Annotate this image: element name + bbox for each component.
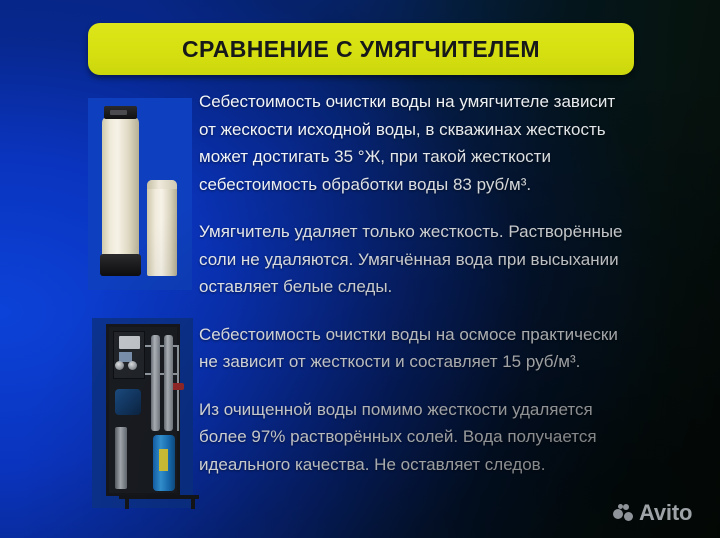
softener-tank-base [100, 254, 141, 276]
softener-valve-display [110, 110, 127, 115]
content-text-column: Себестоимость очистки воды на умягчителе… [199, 88, 631, 478]
ro-membrane-housing-2 [164, 335, 173, 431]
softener-control-valve [104, 106, 137, 119]
water-softener-photo [88, 98, 192, 290]
ro-base-rail [119, 495, 199, 499]
paragraph-osmosis-quality: Из очищенной воды помимо жесткости удаля… [199, 396, 631, 479]
paragraph-softener-cost: Себестоимость очистки воды на умягчителе… [199, 88, 631, 198]
ro-pressure-gauge-1 [115, 361, 124, 370]
ro-high-pressure-pump [115, 389, 141, 415]
ro-vessel-label [159, 449, 168, 471]
ro-control-panel [113, 331, 145, 379]
avito-dot-large [613, 509, 623, 519]
avito-dot-medium [624, 512, 633, 521]
reverse-osmosis-photo [92, 318, 193, 508]
ro-pressure-gauge-2 [128, 361, 137, 370]
avito-wordmark: Avito [639, 500, 692, 526]
page-title: СРАВНЕНИЕ С УМЯГЧИТЕЛЕМ [182, 36, 540, 63]
softener-brine-tank-lid [147, 180, 177, 189]
ro-leg-right [191, 499, 195, 509]
ro-frame [106, 324, 180, 496]
slide-root: СРАВНЕНИЕ С УМЯГЧИТЕЛЕМ [0, 0, 720, 538]
paragraph-osmosis-cost: Себестоимость очистки воды на осмосе пра… [199, 321, 631, 376]
avito-dot-tiny [618, 504, 623, 509]
paragraph-softener-limits: Умягчитель удаляет только жесткость. Рас… [199, 218, 631, 301]
title-banner: СРАВНЕНИЕ С УМЯГЧИТЕЛЕМ [88, 23, 634, 75]
ro-controller-screen [119, 336, 140, 349]
softener-brine-tank [147, 180, 177, 276]
ro-membrane-housing-1 [151, 335, 160, 431]
avito-logo-icon [613, 504, 634, 522]
ro-leg-left [125, 499, 129, 509]
avito-watermark: Avito [613, 500, 692, 526]
avito-dot-small-top [623, 504, 629, 510]
ro-filter-column [115, 427, 127, 489]
softener-tank [102, 116, 139, 268]
